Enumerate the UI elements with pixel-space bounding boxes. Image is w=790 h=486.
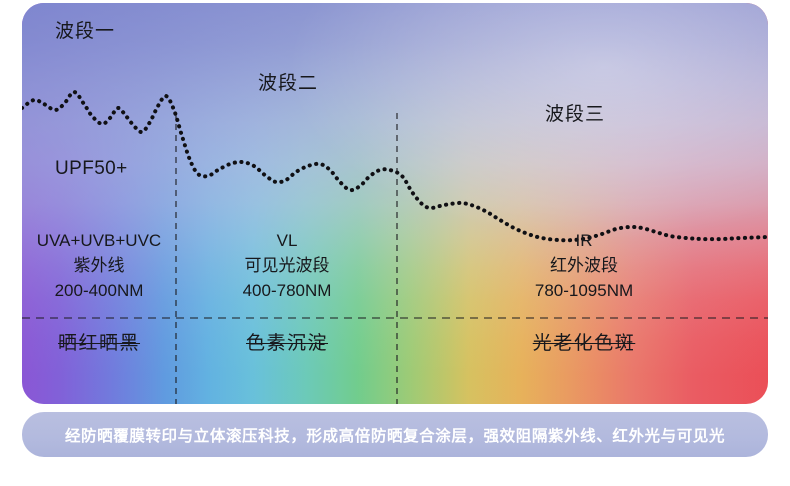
band-wavelength-range: 400-780NM — [243, 278, 332, 303]
band-name-cn: 红外波段 — [535, 253, 633, 278]
band-column-visible-light: VL 可见光波段 400-780NM — [243, 228, 332, 303]
caption-text: 经防晒覆膜转印与立体滚压科技，形成高倍防晒复合涂层，强效阻隔紫外线、红外光与可见… — [65, 424, 725, 446]
band-column-uv: UVA+UVB+UVC 紫外线 200-400NM — [37, 228, 161, 303]
band-wavelength-range: 200-400NM — [37, 278, 161, 303]
band-label-one: 波段一 — [55, 20, 115, 44]
band-label-three: 波段三 — [545, 103, 605, 127]
band-column-infrared: IR 红外波段 780-1095NM — [535, 228, 633, 303]
skin-effect-infrared: 光老化色斑 — [533, 328, 636, 355]
spectrum-panel: 波段一 波段二 波段三 UPF50+ UVA+UVB+UVC 紫外线 200-4… — [22, 3, 768, 404]
caption-banner: 经防晒覆膜转印与立体滚压科技，形成高倍防晒复合涂层，强效阻隔紫外线、红外光与可见… — [22, 412, 768, 457]
skin-effect-uv: 晒红晒黑 — [58, 328, 140, 355]
spectrum-infographic: 波段一 波段二 波段三 UPF50+ UVA+UVB+UVC 紫外线 200-4… — [0, 0, 790, 486]
band-abbr: VL — [243, 228, 332, 253]
band-name-cn: 紫外线 — [37, 253, 161, 278]
band-name-cn: 可见光波段 — [243, 253, 332, 278]
band-wavelength-range: 780-1095NM — [535, 278, 633, 303]
skin-effect-visible-light: 色素沉淀 — [246, 328, 328, 355]
upf-rating-label: UPF50+ — [55, 157, 128, 181]
band-label-two: 波段二 — [258, 72, 318, 96]
band-abbr: IR — [535, 228, 633, 253]
irradiance-curve — [22, 92, 768, 240]
band-abbr: UVA+UVB+UVC — [37, 228, 161, 253]
